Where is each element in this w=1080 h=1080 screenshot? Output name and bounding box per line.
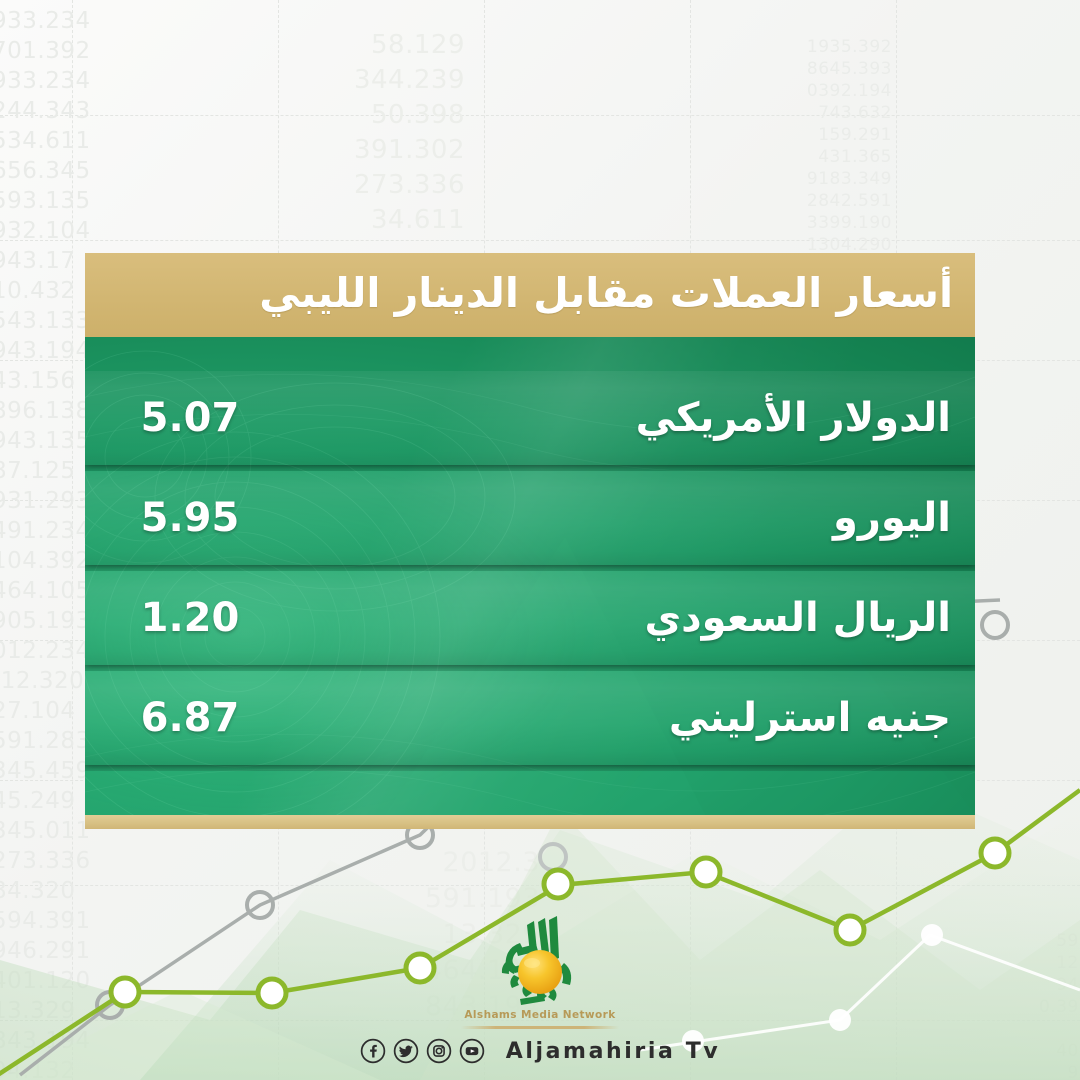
table-row[interactable]: 6.87 جنيه استرليني: [85, 671, 975, 765]
social-links-bar: Aljamahiria Tv: [360, 1038, 721, 1064]
table-row[interactable]: 1.20 الريال السعودي: [85, 571, 975, 665]
gray-trend-point: [540, 844, 566, 870]
twitter-icon[interactable]: [393, 1038, 419, 1064]
rate-currency-name: الدولار الأمريكي: [636, 395, 951, 441]
currency-rates-card: أسعار العملات مقابل الدينار الليبي: [85, 253, 975, 829]
green-trend-point: [692, 858, 720, 886]
table-row[interactable]: 5.07 الدولار الأمريكي: [85, 371, 975, 465]
rate-value: 1.20: [125, 595, 255, 641]
branding-footer: Alshams Media Network: [0, 915, 1080, 1064]
rate-value: 6.87: [125, 695, 255, 741]
rate-currency-name: الريال السعودي: [644, 595, 951, 641]
instagram-icon[interactable]: [426, 1038, 452, 1064]
rate-currency-name: اليورو: [833, 495, 951, 541]
logo-divider: [461, 1026, 619, 1029]
card-bottom-accent-strip: [85, 815, 975, 829]
background-numbers-center: 58.129 344.239 50.398 391.302 273.336 34…: [330, 28, 465, 238]
rate-value: 5.95: [125, 495, 255, 541]
rate-currency-name: جنيه استرليني: [669, 695, 951, 741]
card-body: 5.07 الدولار الأمريكي 5.95 اليورو 1.20 ا…: [85, 337, 975, 815]
page-title: أسعار العملات مقابل الدينار الليبي: [259, 269, 953, 317]
facebook-icon[interactable]: [360, 1038, 386, 1064]
alshams-logo-icon: [480, 915, 600, 1011]
card-header: أسعار العملات مقابل الدينار الليبي: [85, 253, 975, 337]
rates-list: 5.07 الدولار الأمريكي 5.95 اليورو 1.20 ا…: [85, 371, 975, 765]
gray-trend-point: [982, 612, 1008, 638]
table-row[interactable]: 5.95 اليورو: [85, 471, 975, 565]
background-numbers-right: 1935.392 8645.393 0392.194 743.632 159.2…: [760, 36, 892, 256]
youtube-icon[interactable]: [459, 1038, 485, 1064]
green-trend-point: [544, 870, 572, 898]
rate-value: 5.07: [125, 395, 255, 441]
brand-handle: Aljamahiria Tv: [506, 1039, 721, 1064]
logo-caption: Alshams Media Network: [464, 1009, 615, 1021]
green-trend-point: [981, 839, 1009, 867]
